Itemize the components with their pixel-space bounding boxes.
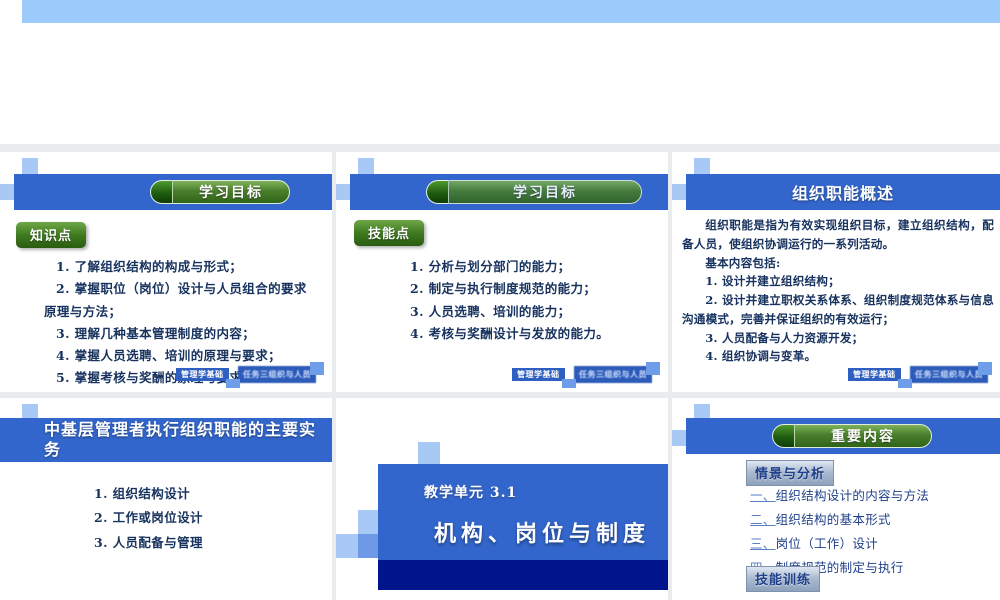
slide-grid: 学习目标 知识点 1. 了解组织结构的构成与形式； 2. 掌握职位（岗位）设计与… bbox=[0, 152, 1000, 600]
list-item: 3. 理解几种基本管理制度的内容； bbox=[56, 323, 318, 345]
slide-middle-manager-practice[interactable]: 中基层管理者执行组织职能的主要实务 1. 组织结构设计 2. 工作或岗位设计 3… bbox=[0, 398, 332, 600]
skill-point-tag: 技能点 bbox=[354, 220, 424, 246]
footer-deco-square bbox=[646, 362, 660, 375]
footer-deco-square bbox=[898, 379, 912, 388]
paragraph: 4. 组织协调与变革。 bbox=[682, 347, 994, 366]
slide-title-unit[interactable]: 教学单元 3.1 机构、岗位与制度 bbox=[336, 398, 668, 600]
top-banner-area bbox=[0, 0, 1000, 24]
list-item: 3. 人员配备与管理 bbox=[94, 531, 324, 555]
toc-text: 组织结构设计的内容与方法 bbox=[776, 488, 930, 503]
toc-text: 组织结构的基本形式 bbox=[776, 512, 891, 527]
footer-label-secondary: 任务三组织与人员 bbox=[574, 366, 652, 383]
top-blue-banner bbox=[22, 0, 1000, 23]
paragraph: 基本内容包括: bbox=[682, 254, 994, 273]
list-item: 原理与方法； bbox=[44, 301, 318, 323]
section-badge-scenario[interactable]: 情景与分析 bbox=[746, 460, 834, 486]
section-badge-skill-training[interactable]: 技能训练 bbox=[746, 566, 820, 592]
footer-label-secondary: 任务三组织与人员 bbox=[238, 366, 316, 383]
list-item: 2. 掌握职位（岗位）设计与人员组合的要求 bbox=[56, 278, 318, 300]
list-item: 4. 考核与奖酬设计与发放的能力。 bbox=[410, 323, 660, 345]
header-pill-label: 学习目标 bbox=[172, 180, 290, 204]
footer-deco-square bbox=[978, 362, 992, 375]
paragraph: 1. 设计并建立组织结构； bbox=[682, 272, 994, 291]
slide-learning-objectives-skill[interactable]: 学习目标 技能点 1. 分析与划分部门的能力； 2. 制定与执行制度规范的能力；… bbox=[336, 152, 668, 392]
top-white-space bbox=[0, 24, 1000, 144]
footer-label-primary: 管理学基础 bbox=[512, 368, 565, 381]
list-item[interactable]: 二、组织结构的基本形式 bbox=[750, 508, 929, 532]
slide-header-band: 重要内容 bbox=[686, 418, 1000, 454]
list-item: 1. 分析与划分部门的能力； bbox=[410, 256, 660, 278]
pill-cap-icon bbox=[772, 424, 794, 448]
knowledge-point-tag: 知识点 bbox=[16, 222, 86, 248]
list-item: 1. 了解组织结构的构成与形式； bbox=[56, 256, 318, 278]
footer-deco-square bbox=[226, 379, 240, 388]
row-gutter-top bbox=[0, 144, 1000, 152]
slide-header-band: 组织职能概述 bbox=[686, 174, 1000, 210]
unit-main-title: 机构、岗位与制度 bbox=[434, 516, 650, 548]
paragraph: 组织职能是指为有效实现组织目标，建立组织结构，配备人员，使组织协调运行的一系列活… bbox=[682, 216, 994, 254]
slide-footer: 管理学基础 任务三组织与人员 bbox=[336, 368, 668, 382]
list-item: 4. 掌握人员选聘、培训的原理与要求； bbox=[56, 345, 318, 367]
toc-number: 三、 bbox=[750, 536, 776, 551]
title-band-navy bbox=[378, 560, 668, 590]
header-pill: 重要内容 bbox=[772, 424, 932, 448]
paragraph: 2. 设计并建立职权关系体系、组织制度规范体系与信息沟通模式，完善并保证组织的有… bbox=[682, 291, 994, 329]
header-pill-label: 重要内容 bbox=[794, 424, 932, 448]
toc-number: 一、 bbox=[750, 488, 776, 503]
list-item: 3. 人员选聘、培训的能力； bbox=[410, 301, 660, 323]
list-item[interactable]: 一、组织结构设计的内容与方法 bbox=[750, 484, 929, 508]
slide-header-band: 学习目标 bbox=[350, 174, 668, 210]
header-pill: 学习目标 bbox=[426, 180, 642, 204]
skills-list: 1. 分析与划分部门的能力； 2. 制定与执行制度规范的能力； 3. 人员选聘、… bbox=[410, 256, 660, 345]
slide-header-band: 中基层管理者执行组织职能的主要实务 bbox=[0, 418, 332, 462]
slide-footer: 管理学基础 任务三组织与人员 bbox=[672, 368, 1000, 382]
header-pill: 学习目标 bbox=[150, 180, 290, 204]
slide-key-content[interactable]: 重要内容 情景与分析 一、组织结构设计的内容与方法 二、组织结构的基本形式 三、… bbox=[672, 398, 1000, 600]
footer-label-primary: 管理学基础 bbox=[848, 368, 901, 381]
pill-cap-icon bbox=[150, 180, 172, 204]
slide-title: 中基层管理者执行组织职能的主要实务 bbox=[0, 418, 332, 462]
slide-header-band: 学习目标 bbox=[14, 174, 332, 210]
footer-label-secondary: 任务三组织与人员 bbox=[910, 366, 988, 383]
list-item: 2. 工作或岗位设计 bbox=[94, 506, 324, 530]
footer-deco-square bbox=[562, 379, 576, 388]
footer-deco-square bbox=[310, 362, 324, 375]
list-item[interactable]: 三、岗位（工作）设计 bbox=[750, 532, 929, 556]
overview-body: 组织职能是指为有效实现组织目标，建立组织结构，配备人员，使组织协调运行的一系列活… bbox=[682, 216, 994, 366]
practice-list: 1. 组织结构设计 2. 工作或岗位设计 3. 人员配备与管理 bbox=[94, 482, 324, 555]
slide-title: 组织职能概述 bbox=[686, 174, 1000, 210]
paragraph: 3. 人员配备与人力资源开发； bbox=[682, 329, 994, 348]
slide-learning-objectives-knowledge[interactable]: 学习目标 知识点 1. 了解组织结构的构成与形式； 2. 掌握职位（岗位）设计与… bbox=[0, 152, 332, 392]
pill-cap-icon bbox=[426, 180, 448, 204]
list-item: 1. 组织结构设计 bbox=[94, 482, 324, 506]
toc-number: 二、 bbox=[750, 512, 776, 527]
header-pill-label: 学习目标 bbox=[448, 180, 642, 204]
unit-label: 教学单元 3.1 bbox=[424, 482, 517, 502]
slide-organization-function-overview[interactable]: 组织职能概述 组织职能是指为有效实现组织目标，建立组织结构，配备人员，使组织协调… bbox=[672, 152, 1000, 392]
slide-footer: 管理学基础 任务三组织与人员 bbox=[0, 368, 332, 382]
list-item: 2. 制定与执行制度规范的能力； bbox=[410, 278, 660, 300]
toc-text: 岗位（工作）设计 bbox=[776, 536, 878, 551]
footer-label-primary: 管理学基础 bbox=[176, 368, 229, 381]
